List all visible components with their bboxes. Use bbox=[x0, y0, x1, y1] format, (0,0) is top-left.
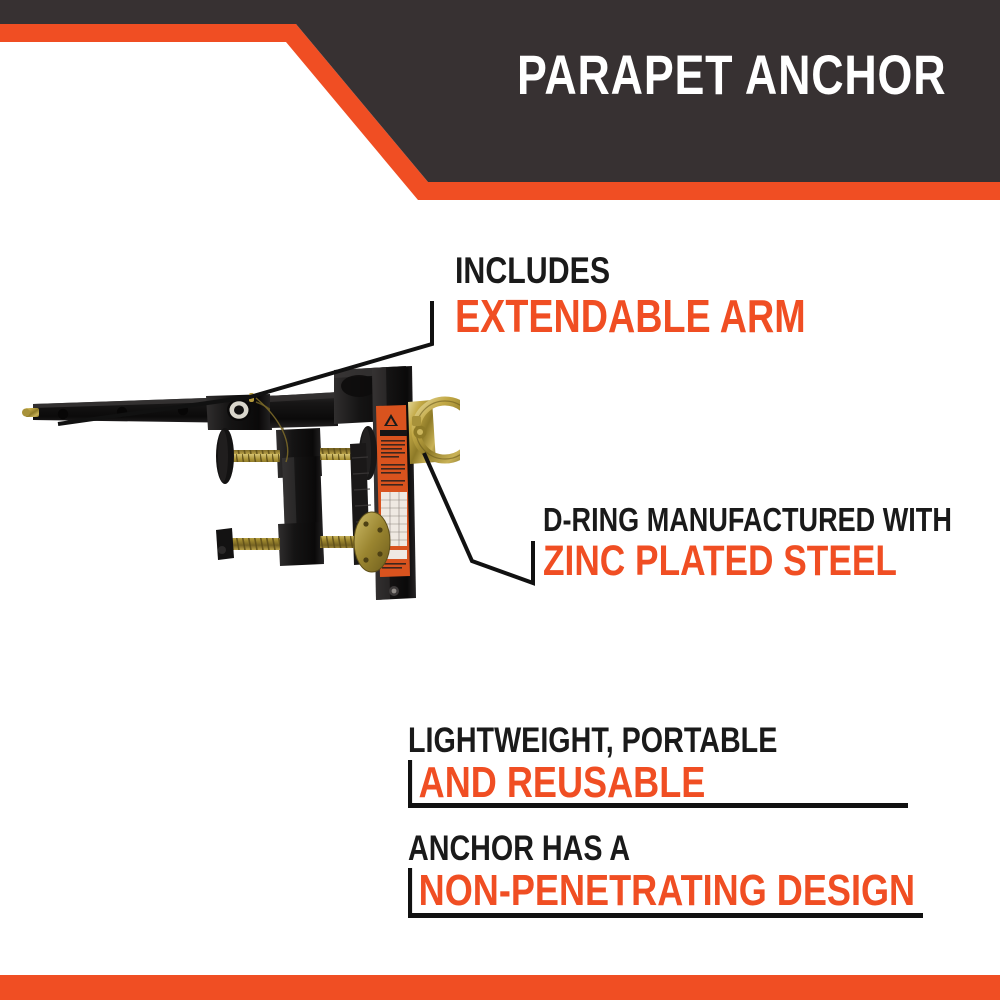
feature-non-penetrating-line-top: ANCHOR HAS A bbox=[408, 830, 830, 867]
callout-d-ring-line-bottom: ZINC PLATED STEEL bbox=[543, 539, 952, 584]
collar-pin bbox=[249, 393, 254, 402]
callout-extendable-arm-line-top: INCLUDES bbox=[455, 252, 806, 290]
feature-lightweight-reusable: LIGHTWEIGHT, PORTABLE AND REUSABLE bbox=[408, 722, 908, 808]
footer-accent-bar bbox=[0, 975, 1000, 1000]
callout-d-ring-line-top: D-RING MANUFACTURED WITH bbox=[543, 503, 952, 537]
callout-extendable-arm: INCLUDES EXTENDABLE ARM bbox=[455, 252, 883, 340]
product-image bbox=[20, 358, 460, 620]
infographic-page: PARAPET ANCHOR bbox=[0, 0, 1000, 1000]
feature-non-penetrating-line-bottom: NON-PENETRATING DESIGN bbox=[408, 868, 830, 914]
page-title: PARAPET ANCHOR bbox=[517, 46, 893, 104]
header-top-dark-strip bbox=[0, 0, 1000, 24]
callout-extendable-arm-line-bottom: EXTENDABLE ARM bbox=[455, 292, 806, 340]
callout-d-ring: D-RING MANUFACTURED WITH ZINC PLATED STE… bbox=[543, 503, 1000, 584]
upper-beam bbox=[270, 392, 338, 428]
feature-non-penetrating: ANCHOR HAS A NON-PENETRATING DESIGN bbox=[408, 830, 923, 918]
feature-lightweight-reusable-line-top: LIGHTWEIGHT, PORTABLE bbox=[408, 722, 818, 759]
d-ring bbox=[408, 400, 460, 464]
feature-lightweight-reusable-line-bottom: AND REUSABLE bbox=[408, 760, 818, 806]
